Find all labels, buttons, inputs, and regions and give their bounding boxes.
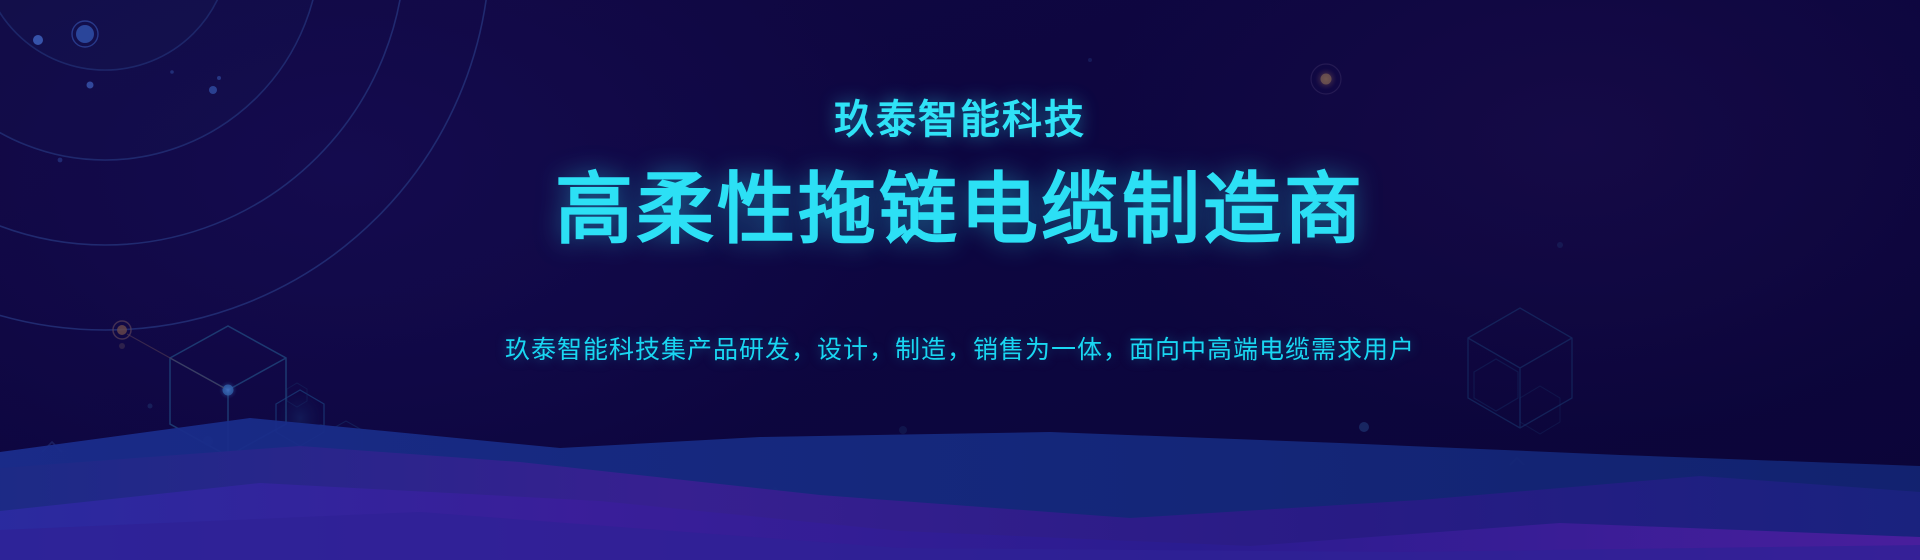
banner-subtitle: 玖泰智能科技集产品研发，设计，制造，销售为一体，面向中高端电缆需求用户	[505, 338, 1415, 363]
banner-eyebrow: 玖泰智能科技	[834, 100, 1086, 140]
banner-content: 玖泰智能科技 高柔性拖链电缆制造商 玖泰智能科技集产品研发，设计，制造，销售为一…	[0, 0, 1920, 560]
hero-banner: 玖泰智能科技 高柔性拖链电缆制造商 玖泰智能科技集产品研发，设计，制造，销售为一…	[0, 0, 1920, 560]
banner-headline: 高柔性拖链电缆制造商	[555, 170, 1365, 248]
